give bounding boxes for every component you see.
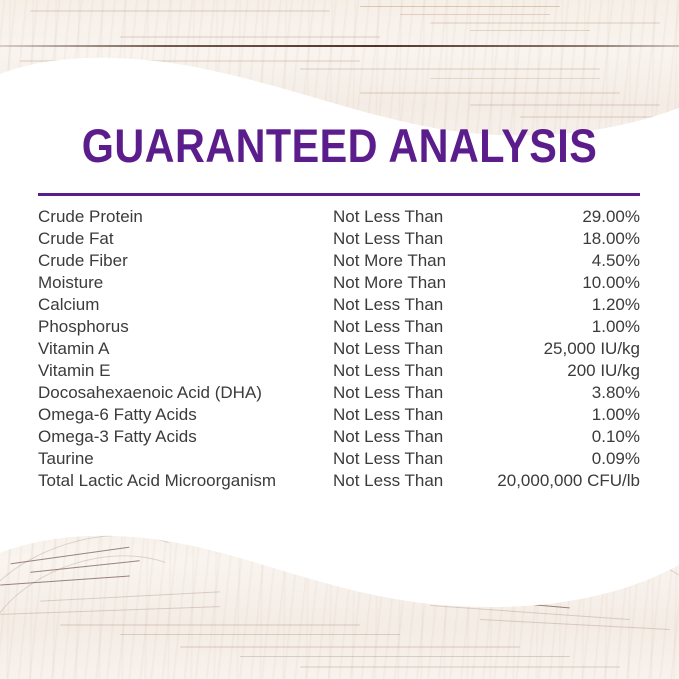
nutrient-value: 10.00% [493, 272, 640, 294]
nutrient-value: 0.09% [493, 448, 640, 470]
title-divider-rule [38, 193, 640, 196]
nutrient-label: Vitamin E [38, 360, 333, 382]
wood-grain [430, 78, 600, 79]
nutrient-label: Omega-6 Fatty Acids [38, 404, 333, 426]
wood-grain [470, 104, 660, 106]
nutrient-qualifier: Not Less Than [333, 470, 493, 492]
page-title: GUARANTEED ANALYSIS [41, 120, 639, 172]
table-row: Crude FiberNot More Than4.50% [38, 250, 640, 272]
nutrient-qualifier: Not Less Than [333, 316, 493, 338]
nutrient-label: Omega-3 Fatty Acids [38, 426, 333, 448]
nutrient-value: 18.00% [493, 228, 640, 250]
nutrient-qualifier: Not Less Than [333, 338, 493, 360]
nutrient-value: 29.00% [493, 206, 640, 228]
wood-grain [520, 116, 670, 118]
table-row: Docosahexaenoic Acid (DHA)Not Less Than3… [38, 382, 640, 404]
nutrient-qualifier: Not Less Than [333, 228, 493, 250]
nutrient-qualifier: Not More Than [333, 272, 493, 294]
analysis-content: GUARANTEED ANALYSIS Crude ProteinNot Les… [0, 120, 679, 520]
wood-background-bottom [0, 500, 679, 679]
wood-grain [470, 30, 590, 31]
nutrient-value: 1.00% [493, 316, 640, 338]
nutrient-value: 200 IU/kg [493, 360, 640, 382]
nutrient-qualifier: Not Less Than [333, 360, 493, 382]
table-row: TaurineNot Less Than0.09% [38, 448, 640, 470]
wood-grain [400, 14, 550, 15]
nutrient-qualifier: Not Less Than [333, 448, 493, 470]
nutrient-value: 20,000,000 CFU/lb [493, 470, 640, 492]
nutrient-qualifier: Not Less Than [333, 294, 493, 316]
nutrient-qualifier: Not Less Than [333, 404, 493, 426]
table-row: Total Lactic Acid MicroorganismNot Less … [38, 470, 640, 492]
nutrient-label: Crude Fat [38, 228, 333, 250]
table-row: Crude FatNot Less Than18.00% [38, 228, 640, 250]
table-row: Omega-3 Fatty AcidsNot Less Than0.10% [38, 426, 640, 448]
nutrient-value: 1.00% [493, 404, 640, 426]
nutrient-value: 25,000 IU/kg [493, 338, 640, 360]
table-row: PhosphorusNot Less Than1.00% [38, 316, 640, 338]
table-row: Vitamin ANot Less Than25,000 IU/kg [38, 338, 640, 360]
nutrient-qualifier: Not More Than [333, 250, 493, 272]
nutrient-label: Phosphorus [38, 316, 333, 338]
nutrient-label: Vitamin A [38, 338, 333, 360]
nutrient-qualifier: Not Less Than [333, 382, 493, 404]
nutrient-label: Crude Fiber [38, 250, 333, 272]
table-row: Omega-6 Fatty AcidsNot Less Than1.00% [38, 404, 640, 426]
wood-grain [20, 60, 360, 62]
nutrient-label: Total Lactic Acid Microorganism [38, 470, 333, 492]
nutrient-value: 0.10% [493, 426, 640, 448]
nutrient-value: 1.20% [493, 294, 640, 316]
table-row: Crude ProteinNot Less Than29.00% [38, 206, 640, 228]
nutrient-label: Moisture [38, 272, 333, 294]
table-row: CalciumNot Less Than1.20% [38, 294, 640, 316]
plank-seam [0, 45, 679, 47]
nutrient-label: Calcium [38, 294, 333, 316]
nutrient-qualifier: Not Less Than [333, 206, 493, 228]
wood-grain [360, 6, 560, 7]
wood-grain [30, 10, 330, 12]
nutrient-label: Taurine [38, 448, 333, 470]
nutrient-label: Docosahexaenoic Acid (DHA) [38, 382, 333, 404]
wood-grain [430, 22, 660, 24]
nutrient-value: 4.50% [493, 250, 640, 272]
guaranteed-analysis-panel: GUARANTEED ANALYSIS Crude ProteinNot Les… [0, 0, 679, 679]
table-row: MoistureNot More Than10.00% [38, 272, 640, 294]
nutrient-qualifier: Not Less Than [333, 426, 493, 448]
wood-grain [300, 68, 600, 70]
nutrient-label: Crude Protein [38, 206, 333, 228]
table-row: Vitamin ENot Less Than200 IU/kg [38, 360, 640, 382]
nutrient-value: 3.80% [493, 382, 640, 404]
guaranteed-analysis-table: Crude ProteinNot Less Than29.00%Crude Fa… [38, 206, 640, 492]
wood-grain [360, 92, 620, 94]
wood-grain [120, 36, 380, 38]
